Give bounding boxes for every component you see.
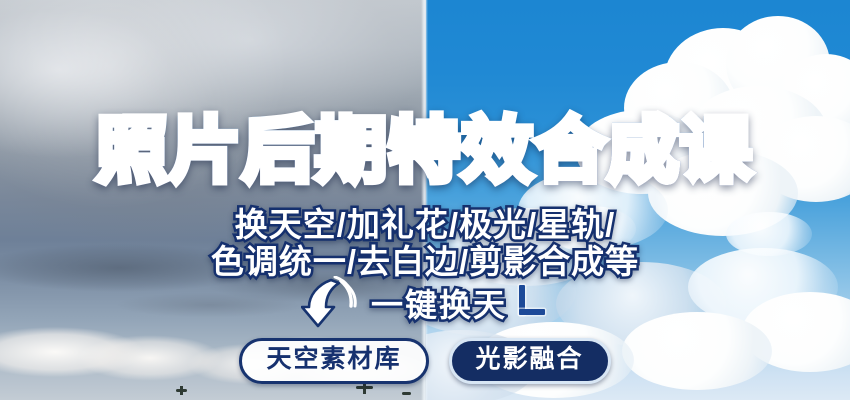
corner-bracket-icon <box>515 283 549 323</box>
feature-highlight-label: 一键换天 <box>371 280 507 326</box>
feature-highlight-row: 一键换天 <box>0 276 850 330</box>
curved-down-arrow-icon <box>301 276 363 330</box>
badge-light-shadow-blend[interactable]: 光影融合 <box>449 338 611 384</box>
promo-banner: 照片后期特效合成课 换天空/加礼花/极光/星轨/ 色调统一/去白边/剪影合成等 … <box>0 0 850 400</box>
banner-content: 照片后期特效合成课 换天空/加礼花/极光/星轨/ 色调统一/去白边/剪影合成等 … <box>0 0 850 400</box>
badge-sky-material-library[interactable]: 天空素材库 <box>239 338 428 384</box>
badge-group: 天空素材库 光影融合 <box>0 338 850 384</box>
page-title: 照片后期特效合成课 <box>0 116 850 187</box>
